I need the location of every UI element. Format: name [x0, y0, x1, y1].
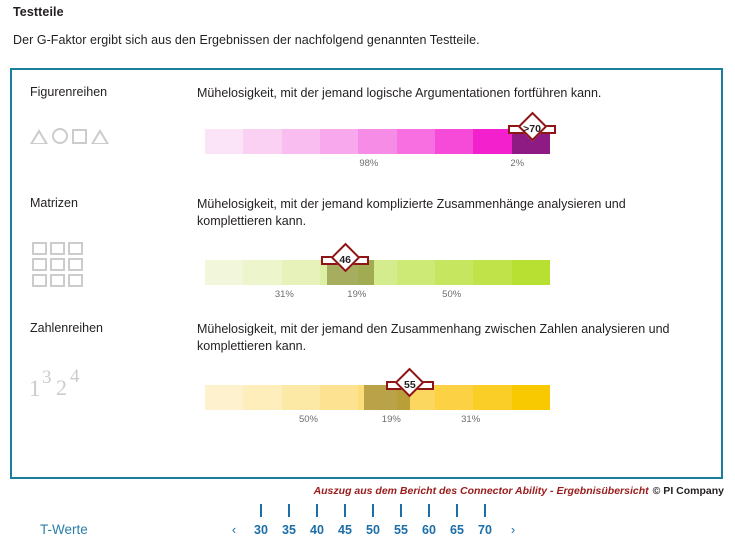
- percent-label: 19%: [347, 289, 366, 300]
- scale-tick: [288, 504, 290, 517]
- scale-tick-label: 65: [450, 523, 464, 537]
- grid-cell: [32, 258, 47, 271]
- score-bar-zahlenreihen: [205, 385, 550, 410]
- bar-segment: [243, 385, 281, 410]
- percent-label: 19%: [382, 414, 401, 425]
- bar-segment: [205, 385, 243, 410]
- scale-tick: [260, 504, 262, 517]
- grid-cell: [32, 242, 47, 255]
- scale-tick: [316, 504, 318, 517]
- square-icon: [72, 129, 87, 144]
- scale-right-chevron: ›: [511, 522, 515, 537]
- scale-tick: [428, 504, 430, 517]
- row-description: Mühelosigkeit, mit der jemand den Zusamm…: [197, 321, 677, 355]
- bar-segment: [282, 385, 320, 410]
- bar-segment: [473, 385, 511, 410]
- scale-tick-label: 70: [478, 523, 492, 537]
- bar-segment: [205, 260, 243, 285]
- scale-tick-label: 45: [338, 523, 352, 537]
- bar-segment: [512, 260, 550, 285]
- score-bar-figurenreihen: [205, 129, 550, 154]
- triangle-icon: [91, 129, 109, 144]
- intro-text: Der G-Faktor ergibt sich aus den Ergebni…: [13, 33, 480, 47]
- scale-tick: [400, 504, 402, 517]
- bar-segment: [512, 385, 550, 410]
- scale-tick-label: 40: [310, 523, 324, 537]
- row-title: Matrizen: [30, 196, 78, 210]
- bar-segment: [282, 129, 320, 154]
- grid-cell: [32, 274, 47, 287]
- row-description: Mühelosigkeit, mit der jemand komplizier…: [197, 196, 677, 230]
- grid-cell: [68, 274, 83, 287]
- grid-cell: [50, 258, 65, 271]
- t-werte-label: T-Werte: [40, 522, 88, 537]
- scale-tick: [344, 504, 346, 517]
- scale-tick-label: 30: [254, 523, 268, 537]
- bar-segment: [435, 385, 473, 410]
- marker-label: >70: [509, 116, 555, 143]
- grid-cell: [68, 242, 83, 255]
- digit-1: 1: [29, 377, 41, 400]
- bar-segment: [282, 260, 320, 285]
- grid-cell: [50, 242, 65, 255]
- bar-segment: [435, 129, 473, 154]
- marker-label: 55: [387, 372, 433, 399]
- digit-4: 4: [70, 367, 80, 386]
- bar-segment: [473, 260, 511, 285]
- bar-segment: [320, 385, 358, 410]
- percent-label: 31%: [275, 289, 294, 300]
- bar-segment: [243, 129, 281, 154]
- numbers-icon: 1 3 2 4: [29, 364, 95, 398]
- scale-left-chevron: ‹: [232, 522, 236, 537]
- digit-3: 3: [42, 368, 52, 387]
- page-title: Testteile: [13, 5, 64, 19]
- scale-tick: [372, 504, 374, 517]
- scale-tick: [456, 504, 458, 517]
- row-title: Figurenreihen: [30, 85, 107, 99]
- row-title: Zahlenreihen: [30, 321, 103, 335]
- scale-tick-label: 35: [282, 523, 296, 537]
- score-bar-matrizen: [205, 260, 550, 285]
- marker-label: 46: [322, 247, 368, 274]
- percent-label: 2%: [510, 158, 524, 169]
- triangle-icon: [30, 129, 48, 144]
- bar-segment: [397, 260, 435, 285]
- percent-label: 31%: [461, 414, 480, 425]
- shapes-icon: [30, 128, 109, 144]
- percent-label: 98%: [359, 158, 378, 169]
- percent-label: 50%: [442, 289, 461, 300]
- bar-segment: [473, 129, 511, 154]
- scale-tick-label: 50: [366, 523, 380, 537]
- footer: Auszug aus dem Bericht des Connector Abi…: [314, 485, 724, 497]
- bar-segment: [243, 260, 281, 285]
- testteile-panel: Figurenreihen Mühelosigkeit, mit der jem…: [10, 68, 723, 479]
- digit-2: 2: [56, 377, 67, 399]
- grid-cell: [68, 258, 83, 271]
- scale-tick: [484, 504, 486, 517]
- scale-tick-label: 60: [422, 523, 436, 537]
- scale-tick-label: 55: [394, 523, 408, 537]
- bar-segment: [320, 129, 358, 154]
- circle-icon: [52, 128, 68, 144]
- bar-segment: [435, 260, 473, 285]
- grid-cell: [50, 274, 65, 287]
- row-description: Mühelosigkeit, mit der jemand logische A…: [197, 85, 677, 102]
- bar-segment: [358, 129, 396, 154]
- footer-copyright: © PI Company: [653, 485, 724, 497]
- footer-source: Auszug aus dem Bericht des Connector Abi…: [314, 485, 649, 497]
- bar-segment: [205, 129, 243, 154]
- percent-label: 50%: [299, 414, 318, 425]
- matrix-grid-icon: [32, 242, 83, 287]
- bar-segment: [397, 129, 435, 154]
